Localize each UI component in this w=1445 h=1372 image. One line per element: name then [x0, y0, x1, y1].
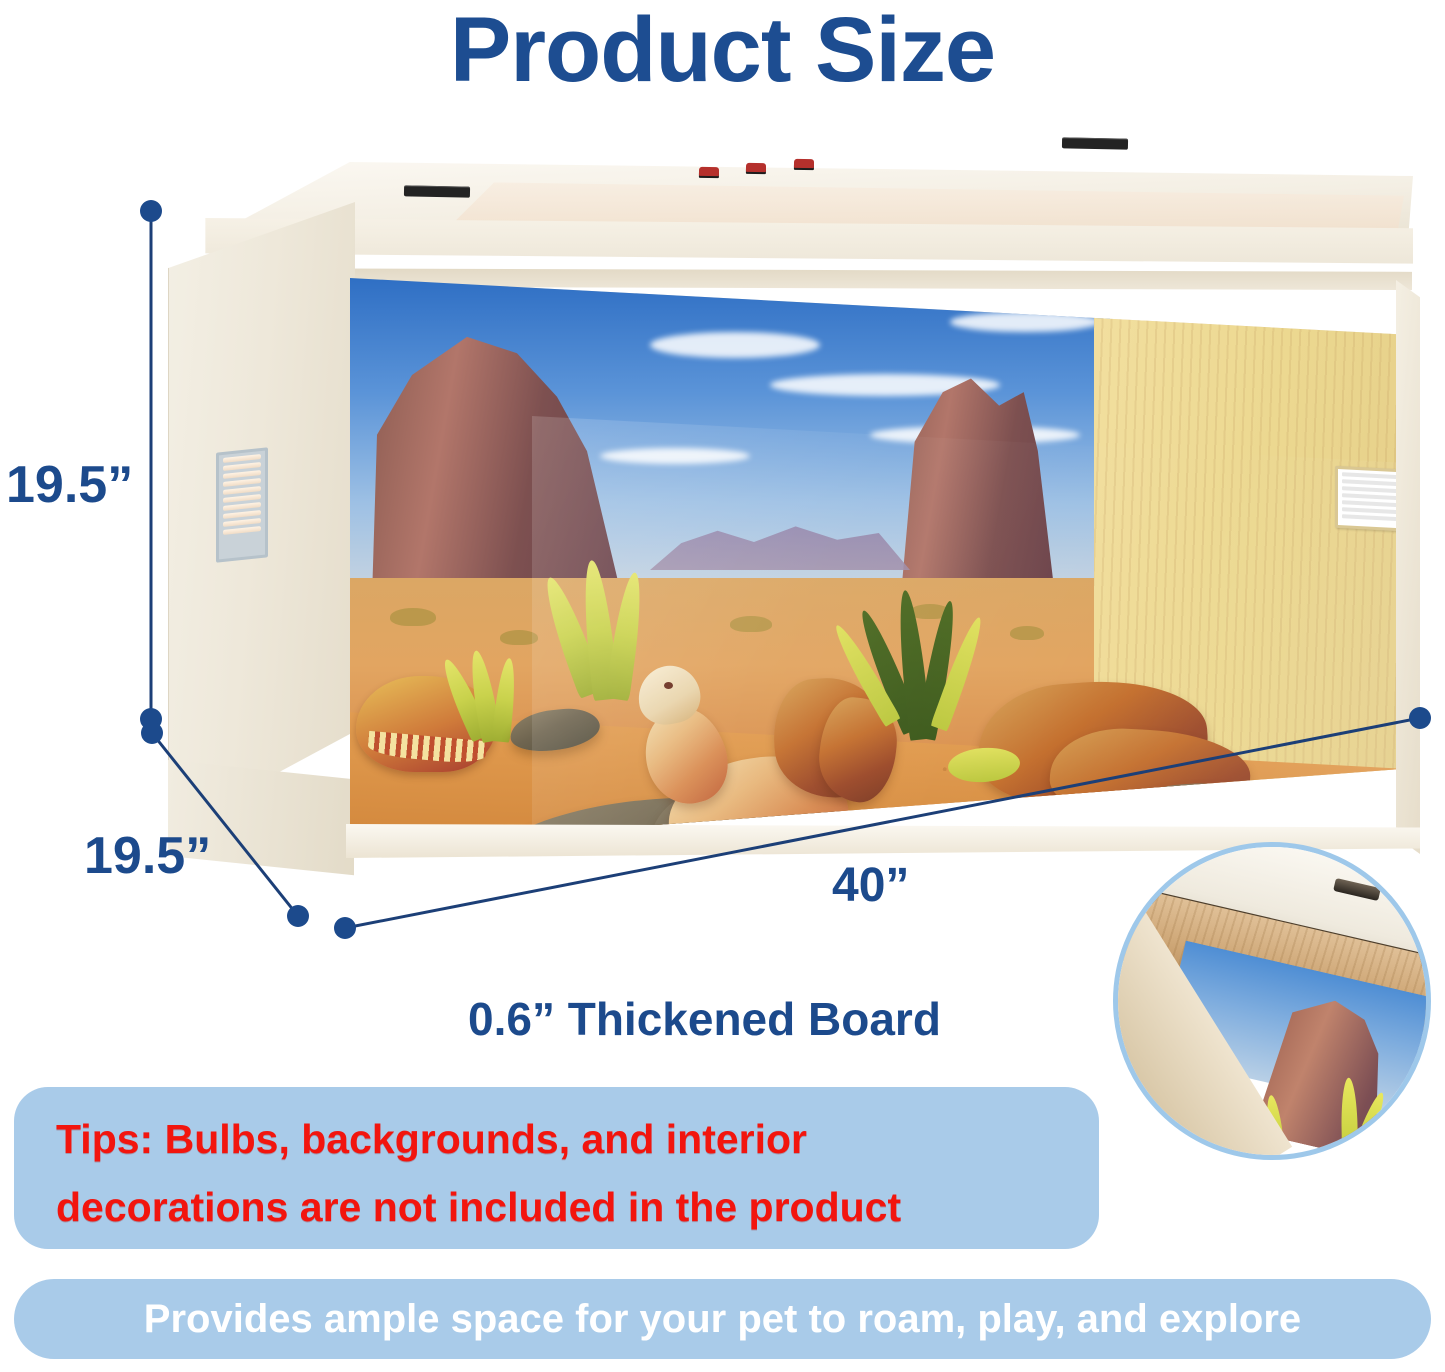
board-thickness-label: 0.6” Thickened Board — [468, 992, 941, 1046]
cloud-shape — [950, 312, 1100, 332]
side-ventilation-grille-icon — [216, 447, 268, 562]
bearded-dragon-eye — [664, 682, 673, 689]
tips-line-1: Tips: Bulbs, backgrounds, and interior — [56, 1105, 1057, 1173]
latch-1-icon — [699, 167, 719, 176]
desert-scrub — [500, 630, 538, 645]
feature-banner-box: Provides ample space for your pet to roa… — [14, 1279, 1431, 1359]
hinge-right-icon — [1062, 137, 1128, 149]
tips-line-2: decorations are not included in the prod… — [56, 1173, 1057, 1241]
desert-scrub — [1010, 626, 1044, 640]
board-thickness-closeup-inset — [1113, 842, 1431, 1160]
width-dimension-label: 40” — [832, 858, 909, 913]
latch-2-icon — [746, 163, 766, 172]
desert-scrub — [390, 608, 436, 626]
depth-dimension-label: 19.5” — [84, 826, 211, 886]
product-size-infographic: Product Size — [0, 0, 1445, 1372]
glass-viewing-window — [350, 278, 1412, 848]
terrarium-product-image — [168, 140, 1433, 860]
page-title: Product Size — [0, 2, 1445, 98]
height-dimension-label: 19.5” — [6, 455, 133, 515]
desert-scrub — [730, 616, 772, 632]
cloud-shape — [600, 448, 750, 464]
cloud-shape — [650, 332, 820, 358]
latch-3-icon — [794, 159, 814, 168]
tips-callout-box: Tips: Bulbs, backgrounds, and interior d… — [14, 1087, 1099, 1249]
driftwood-right-branch — [1293, 780, 1406, 832]
feature-banner-text: Provides ample space for your pet to roa… — [144, 1297, 1301, 1342]
right-frame-post — [1396, 280, 1420, 854]
hinge-left-icon — [404, 185, 470, 197]
